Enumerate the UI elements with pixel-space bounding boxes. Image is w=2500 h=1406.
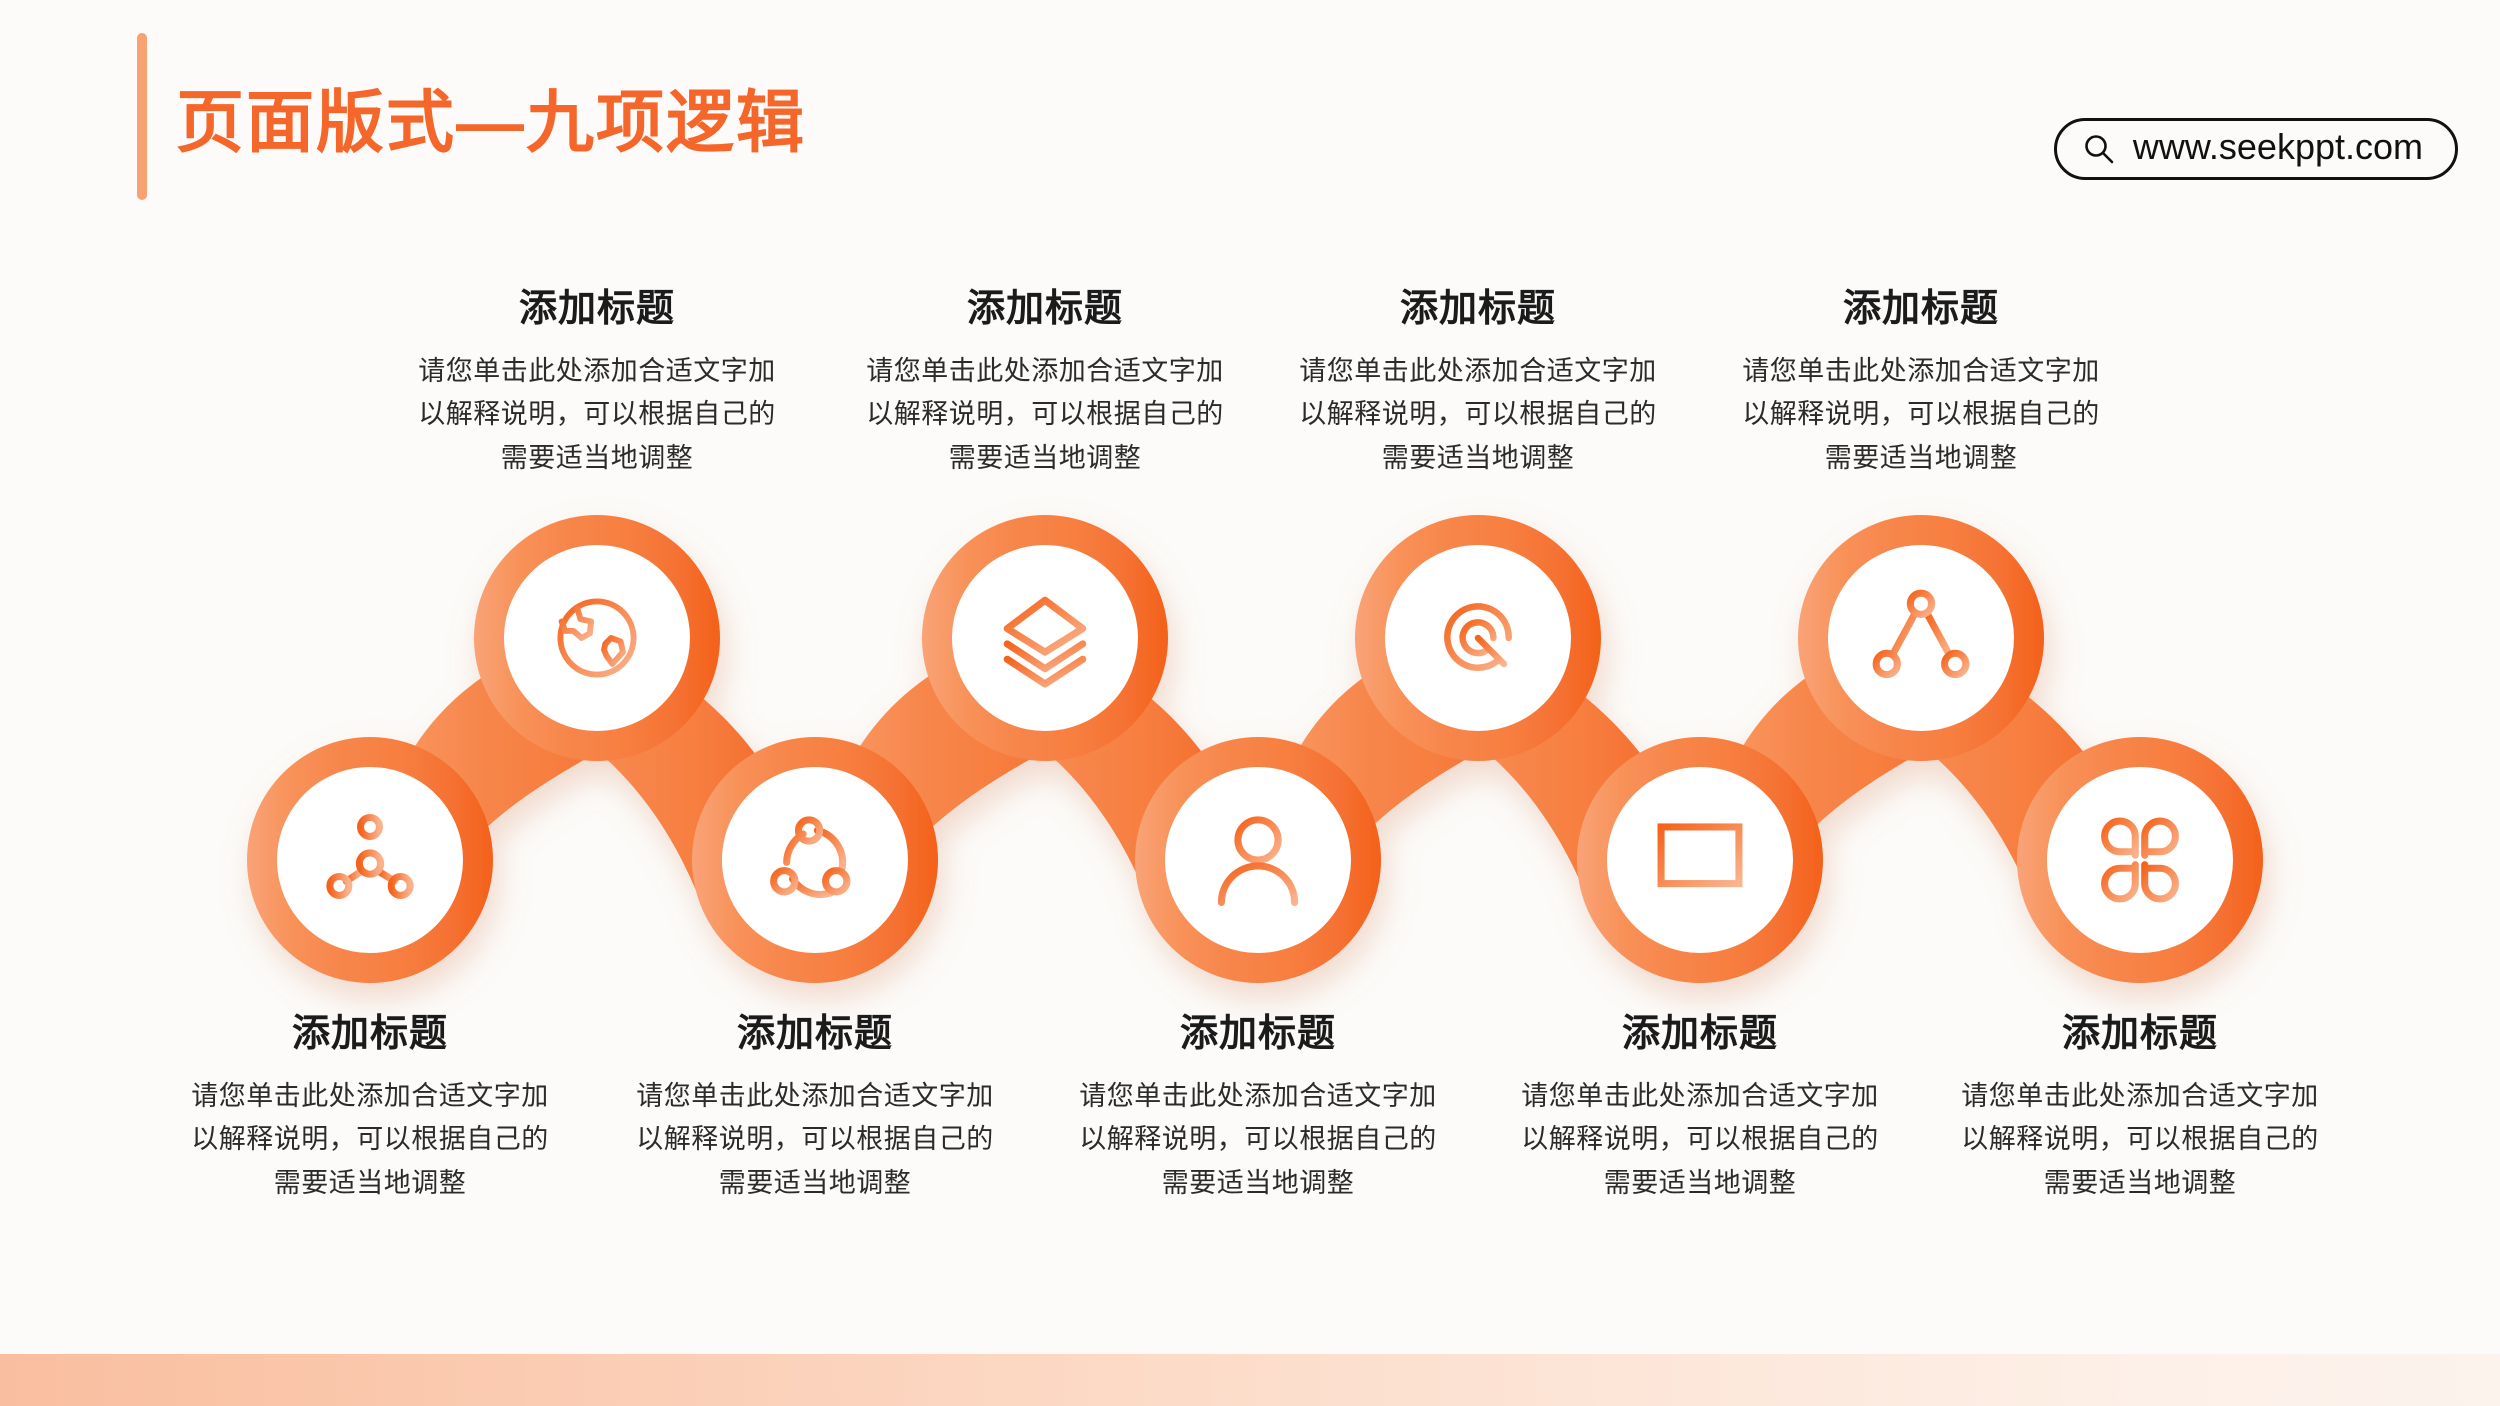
item-title: 添加标题: [185, 1013, 555, 1057]
url-badge-text: www.seekppt.com: [2133, 129, 2423, 165]
item-title: 添加标题: [1736, 288, 2106, 332]
item-body: 请您单击此处添加合适文字加以解释说明，可以根据自己的需要适当地调整: [412, 350, 782, 481]
text-block-6: 添加标题 请您单击此处添加合适文字加以解释说明，可以根据自己的需要适当地调整: [1293, 288, 1663, 481]
item-body: 请您单击此处添加合适文字加以解释说明，可以根据自己的需要适当地调整: [860, 350, 1230, 481]
item-title: 添加标题: [1073, 1013, 1443, 1057]
item-body: 请您单击此处添加合适文字加以解释说明，可以根据自己的需要适当地调整: [1073, 1075, 1443, 1206]
process-chain-graphic: [0, 470, 2500, 1070]
page-title: 页面版式—九项逻辑: [176, 86, 806, 161]
item-body: 请您单击此处添加合适文字加以解释说明，可以根据自己的需要适当地调整: [185, 1075, 555, 1206]
item-title: 添加标题: [1293, 288, 1663, 332]
text-block-7: 添加标题 请您单击此处添加合适文字加以解释说明，可以根据自己的需要适当地调整: [1515, 1013, 1885, 1206]
item-body: 请您单击此处添加合适文字加以解释说明，可以根据自己的需要适当地调整: [1955, 1075, 2325, 1206]
item-title: 添加标题: [1515, 1013, 1885, 1057]
text-block-4: 添加标题 请您单击此处添加合适文字加以解释说明，可以根据自己的需要适当地调整: [860, 288, 1230, 481]
item-body: 请您单击此处添加合适文字加以解释说明，可以根据自己的需要适当地调整: [1293, 350, 1663, 481]
bottom-decorative-band: [0, 1354, 2500, 1406]
item-title: 添加标题: [630, 1013, 1000, 1057]
text-block-5: 添加标题 请您单击此处添加合适文字加以解释说明，可以根据自己的需要适当地调整: [1073, 1013, 1443, 1206]
text-block-1: 添加标题 请您单击此处添加合适文字加以解释说明，可以根据自己的需要适当地调整: [185, 1013, 555, 1206]
text-block-9: 添加标题 请您单击此处添加合适文字加以解释说明，可以根据自己的需要适当地调整: [1955, 1013, 2325, 1206]
item-body: 请您单击此处添加合适文字加以解释说明，可以根据自己的需要适当地调整: [630, 1075, 1000, 1206]
item-title: 添加标题: [860, 288, 1230, 332]
title-accent-bar: [137, 33, 147, 200]
item-body: 请您单击此处添加合适文字加以解释说明，可以根据自己的需要适当地调整: [1515, 1075, 1885, 1206]
text-block-8: 添加标题 请您单击此处添加合适文字加以解释说明，可以根据自己的需要适当地调整: [1736, 288, 2106, 481]
url-badge[interactable]: www.seekppt.com: [2054, 118, 2458, 180]
search-icon: [2083, 133, 2115, 165]
text-block-2: 添加标题 请您单击此处添加合适文字加以解释说明，可以根据自己的需要适当地调整: [412, 288, 782, 481]
item-title: 添加标题: [412, 288, 782, 332]
text-block-3: 添加标题 请您单击此处添加合适文字加以解释说明，可以根据自己的需要适当地调整: [630, 1013, 1000, 1206]
item-title: 添加标题: [1955, 1013, 2325, 1057]
item-body: 请您单击此处添加合适文字加以解释说明，可以根据自己的需要适当地调整: [1736, 350, 2106, 481]
